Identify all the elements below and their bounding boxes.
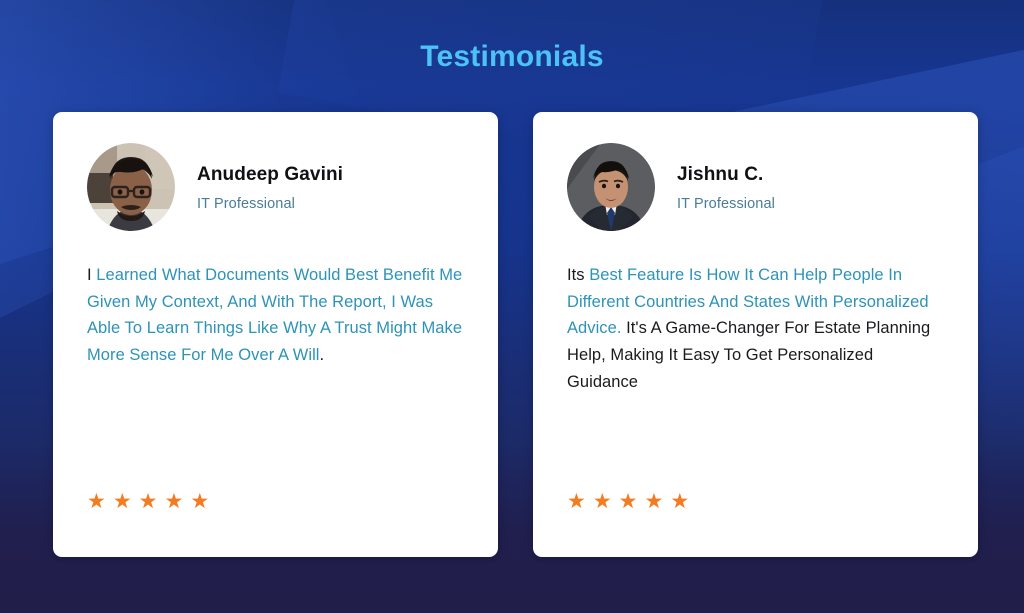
star-icon: ★: [644, 491, 663, 512]
star-icon: ★: [190, 491, 209, 512]
quote-tail: .: [320, 346, 325, 364]
star-icon: ★: [164, 491, 183, 512]
star-icon: ★: [113, 491, 132, 512]
author-role: IT Professional: [677, 196, 775, 212]
testimonial-quote: I Learned What Documents Would Best Bene…: [87, 262, 464, 369]
testimonial-card: Anudeep Gavini IT Professional I Learned…: [53, 112, 498, 557]
quote-highlight: Learned What Documents Would Best Benefi…: [87, 266, 462, 364]
page-title: Testimonials: [0, 40, 1024, 74]
author-info: Anudeep Gavini IT Professional: [197, 162, 343, 212]
quote-tail: It's A Game-Changer For Estate Planning …: [567, 319, 930, 390]
star-icon: ★: [87, 491, 106, 512]
testimonial-card-list: Anudeep Gavini IT Professional I Learned…: [53, 112, 978, 557]
quote-lead: Its: [567, 266, 589, 284]
rating-stars: ★ ★ ★ ★ ★: [567, 491, 689, 512]
testimonial-card: Jishnu C. IT Professional Its Best Featu…: [533, 112, 978, 557]
star-icon: ★: [593, 491, 612, 512]
author-name: Jishnu C.: [677, 164, 775, 187]
avatar-photo-anudeep: [87, 143, 175, 231]
star-icon: ★: [139, 491, 158, 512]
testimonial-author: Anudeep Gavini IT Professional: [87, 143, 464, 231]
star-icon: ★: [619, 491, 638, 512]
testimonial-quote: Its Best Feature Is How It Can Help Peop…: [567, 262, 944, 396]
author-info: Jishnu C. IT Professional: [677, 162, 775, 212]
star-icon: ★: [670, 491, 689, 512]
testimonials-page: Testimonials: [0, 0, 1024, 613]
testimonial-author: Jishnu C. IT Professional: [567, 143, 944, 231]
avatar-photo-jishnu: [567, 143, 655, 231]
rating-stars: ★ ★ ★ ★ ★: [87, 491, 209, 512]
author-role: IT Professional: [197, 196, 343, 212]
author-name: Anudeep Gavini: [197, 164, 343, 187]
quote-lead: I: [87, 266, 96, 284]
star-icon: ★: [567, 491, 586, 512]
